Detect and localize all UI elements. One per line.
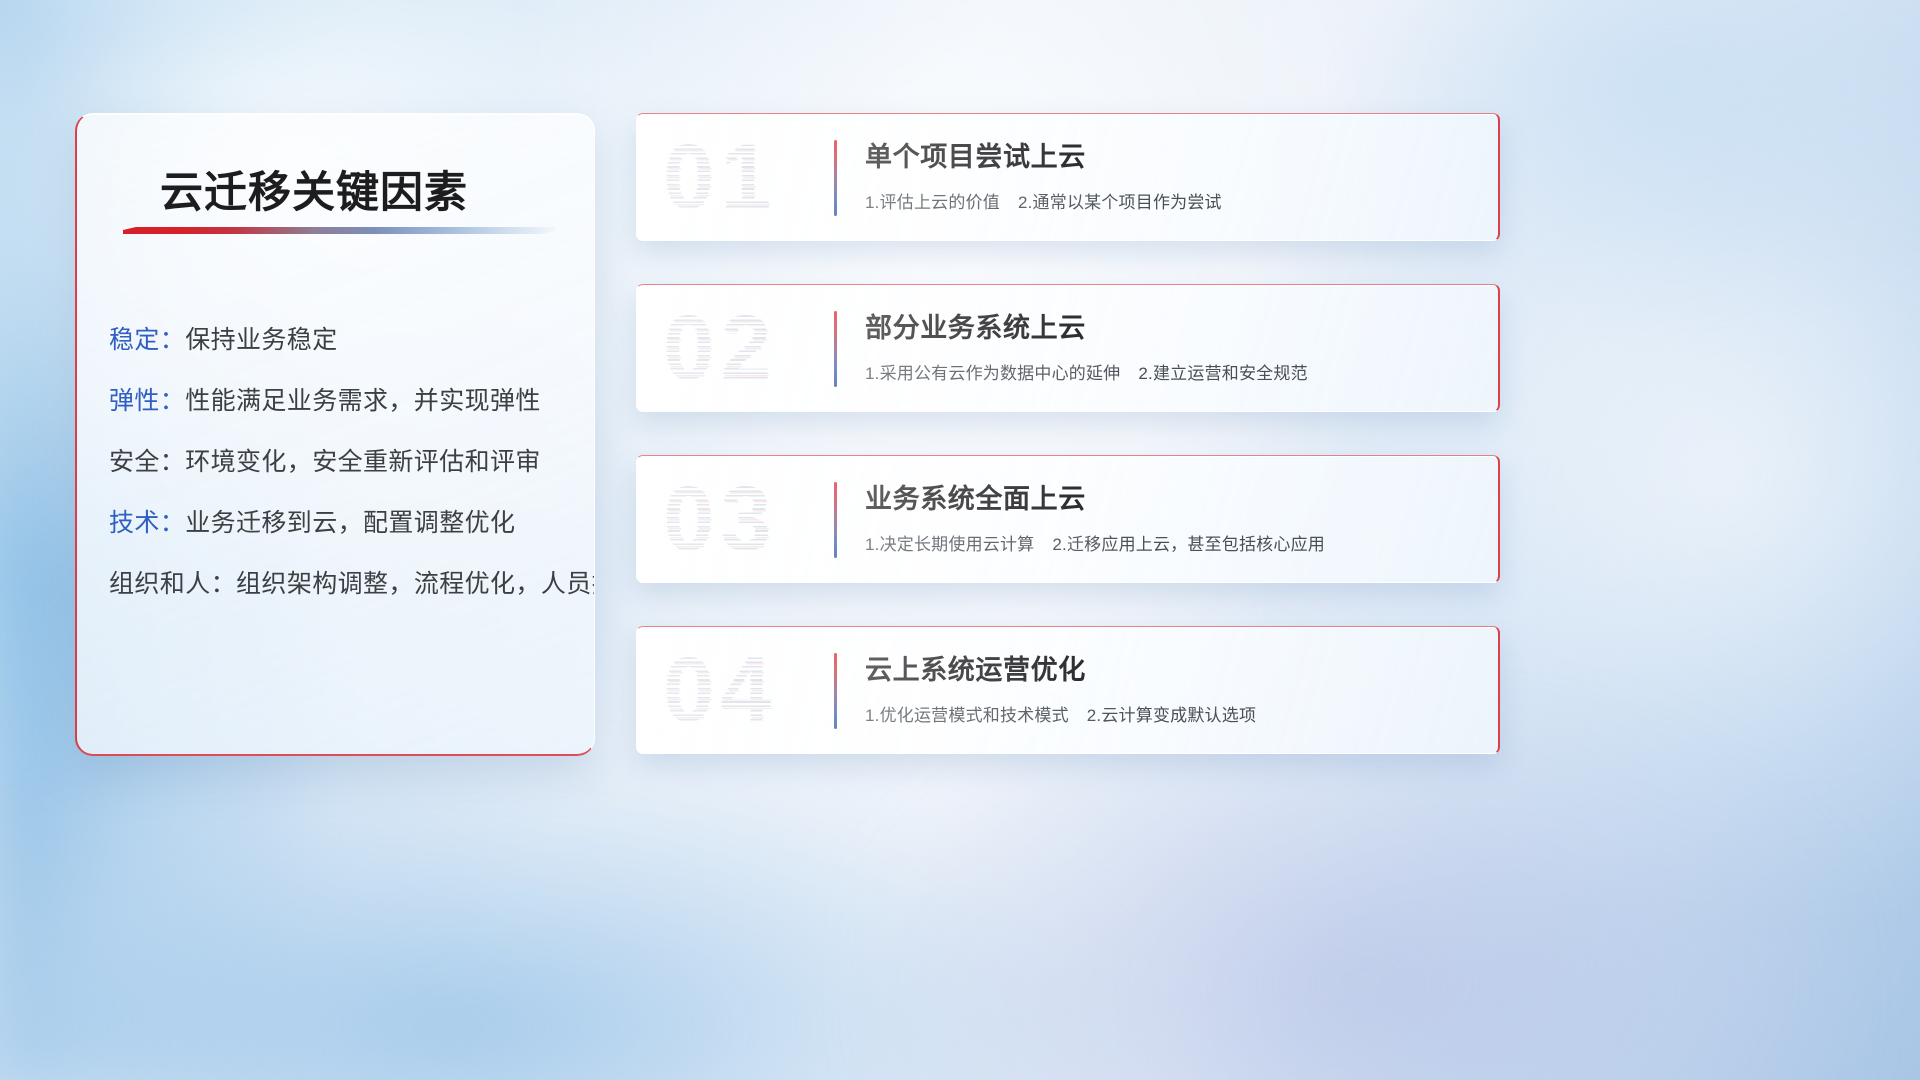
key-factor-label: 安全： bbox=[109, 448, 185, 476]
card-description-point-2: 2.迁移应用上云，甚至包括核心应用 bbox=[1052, 535, 1325, 554]
key-factors-list: 稳定：保持业务稳定弹性：性能满足业务需求，并实现弹性安全：环境变化，安全重新评估… bbox=[109, 310, 572, 615]
card-description-point-2: 2.建立运营和安全规范 bbox=[1138, 364, 1307, 383]
card-title: 部分业务系统上云 bbox=[865, 312, 1476, 346]
card-description: 1.评估上云的价值2.通常以某个项目作为尝试 bbox=[865, 188, 1476, 213]
key-factor-text: 业务迁移到云，配置调整优化 bbox=[185, 509, 515, 537]
card-accent-divider bbox=[834, 482, 837, 558]
key-factor-label: 组织和人： bbox=[109, 570, 236, 598]
card-description-point-1: 1.决定长期使用云计算 bbox=[865, 535, 1034, 554]
stage-number-watermark: 03 bbox=[663, 473, 777, 565]
title-underline-gradient bbox=[123, 227, 555, 234]
key-factor-text: 保持业务稳定 bbox=[185, 326, 337, 354]
card-description-point-2: 2.通常以某个项目作为尝试 bbox=[1018, 193, 1222, 212]
migration-stage-card[interactable]: 01单个项目尝试上云1.评估上云的价值2.通常以某个项目作为尝试 bbox=[636, 113, 1500, 241]
card-description-point-2: 2.云计算变成默认选项 bbox=[1087, 706, 1256, 725]
card-description: 1.决定长期使用云计算2.迁移应用上云，甚至包括核心应用 bbox=[865, 530, 1476, 555]
key-factor-label: 技术： bbox=[109, 509, 185, 537]
key-factor-item: 技术：业务迁移到云，配置调整优化 bbox=[109, 493, 572, 554]
card-accent-divider bbox=[834, 140, 837, 216]
key-factor-label: 弹性： bbox=[109, 387, 185, 415]
card-description-point-1: 1.评估上云的价值 bbox=[865, 193, 1000, 212]
card-description: 1.优化运营模式和技术模式2.云计算变成默认选项 bbox=[865, 701, 1476, 726]
card-title: 业务系统全面上云 bbox=[865, 483, 1476, 517]
key-factor-text: 性能满足业务需求，并实现弹性 bbox=[185, 387, 541, 415]
card-title: 单个项目尝试上云 bbox=[865, 141, 1476, 175]
key-factor-text: 组织架构调整，流程优化，人员技能培训 bbox=[236, 570, 595, 598]
key-factor-item: 稳定：保持业务稳定 bbox=[109, 310, 572, 371]
key-factor-text: 环境变化，安全重新评估和评审 bbox=[185, 448, 541, 476]
card-text-block: 业务系统全面上云1.决定长期使用云计算2.迁移应用上云，甚至包括核心应用 bbox=[865, 483, 1476, 555]
panel-title: 云迁移关键因素 bbox=[160, 158, 468, 220]
card-description-point-1: 1.优化运营模式和技术模式 bbox=[865, 706, 1069, 725]
card-description-point-1: 1.采用公有云作为数据中心的延伸 bbox=[865, 364, 1120, 383]
key-factor-item: 安全：环境变化，安全重新评估和评审 bbox=[109, 432, 572, 493]
migration-stage-card[interactable]: 03业务系统全面上云1.决定长期使用云计算2.迁移应用上云，甚至包括核心应用 bbox=[636, 455, 1500, 583]
card-text-block: 单个项目尝试上云1.评估上云的价值2.通常以某个项目作为尝试 bbox=[865, 141, 1476, 213]
stage-number-watermark: 04 bbox=[663, 644, 777, 736]
stage-number-watermark: 02 bbox=[663, 302, 777, 394]
card-text-block: 云上系统运营优化1.优化运营模式和技术模式2.云计算变成默认选项 bbox=[865, 654, 1476, 726]
key-factor-item: 弹性：性能满足业务需求，并实现弹性 bbox=[109, 371, 572, 432]
key-factor-item: 组织和人：组织架构调整，流程优化，人员技能培训 bbox=[109, 554, 572, 615]
key-factor-label: 稳定： bbox=[109, 326, 185, 354]
card-title: 云上系统运营优化 bbox=[865, 654, 1476, 688]
migration-stage-card-list: 01单个项目尝试上云1.评估上云的价值2.通常以某个项目作为尝试02部分业务系统… bbox=[636, 113, 1500, 797]
migration-stage-card[interactable]: 04云上系统运营优化1.优化运营模式和技术模式2.云计算变成默认选项 bbox=[636, 626, 1500, 754]
card-accent-divider bbox=[834, 311, 837, 387]
migration-stage-card[interactable]: 02部分业务系统上云1.采用公有云作为数据中心的延伸2.建立运营和安全规范 bbox=[636, 284, 1500, 412]
card-text-block: 部分业务系统上云1.采用公有云作为数据中心的延伸2.建立运营和安全规范 bbox=[865, 312, 1476, 384]
stage-number-watermark: 01 bbox=[663, 131, 777, 223]
card-description: 1.采用公有云作为数据中心的延伸2.建立运营和安全规范 bbox=[865, 359, 1476, 384]
card-accent-divider bbox=[834, 653, 837, 729]
key-factors-panel: 云迁移关键因素 稳定：保持业务稳定弹性：性能满足业务需求，并实现弹性安全：环境变… bbox=[75, 113, 595, 756]
